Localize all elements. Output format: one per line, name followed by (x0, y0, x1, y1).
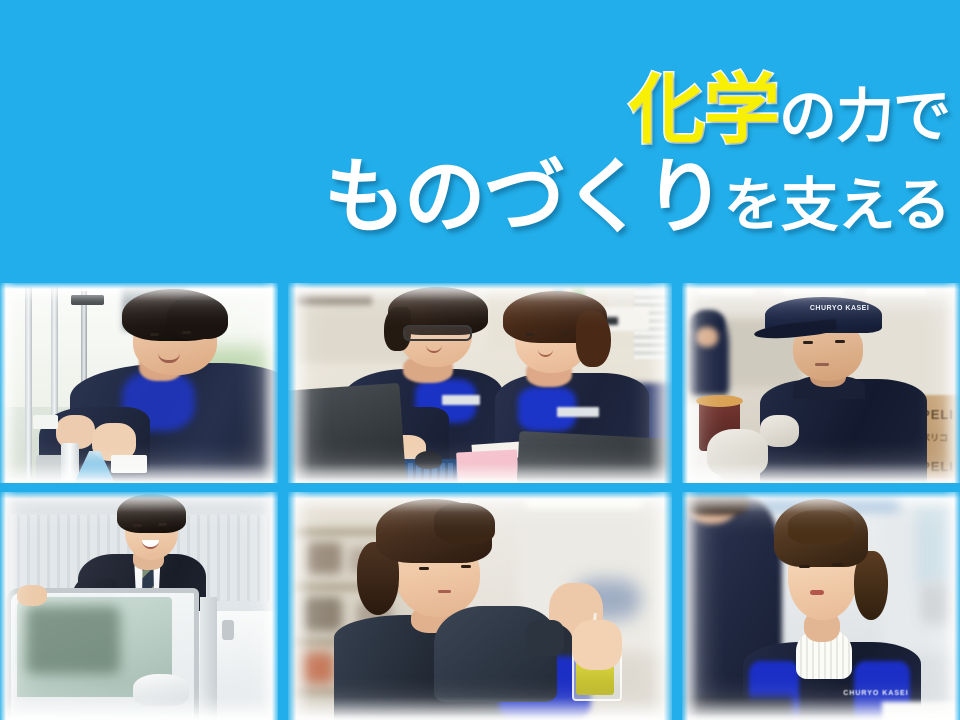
cap-logo-text: CHURYO KASEI (810, 305, 869, 314)
photo-sales-car (0, 492, 278, 720)
headline-line-2: ものづくりを支える (0, 156, 950, 240)
photo-warehouse-worker: PELI ペリコ PELI CHURYO KASEI (682, 283, 960, 483)
hero-headline: 化学の力で ものづくりを支える (0, 72, 960, 239)
headline-accent-kagaku: 化学 (629, 72, 779, 150)
headline-wosasaeru: を支える (724, 176, 950, 235)
photo-office-pair (288, 283, 672, 483)
headline-suffix-nochikarade: の力で (779, 87, 950, 146)
photo-collage: PELI ペリコ PELI CHURYO KASEI (0, 283, 960, 720)
headline-monozukuri: ものづくり (324, 156, 724, 240)
photo-lab-titration (0, 283, 278, 483)
photo-team-discussion: CHURYO KASEI (682, 492, 960, 720)
headline-line-1: 化学の力で (0, 72, 950, 150)
uniform-logo-text: CHURYO KASEI (843, 690, 908, 697)
hero-banner: 化学の力で ものづくりを支える (0, 0, 960, 720)
photo-beaker-mixing (288, 492, 672, 720)
